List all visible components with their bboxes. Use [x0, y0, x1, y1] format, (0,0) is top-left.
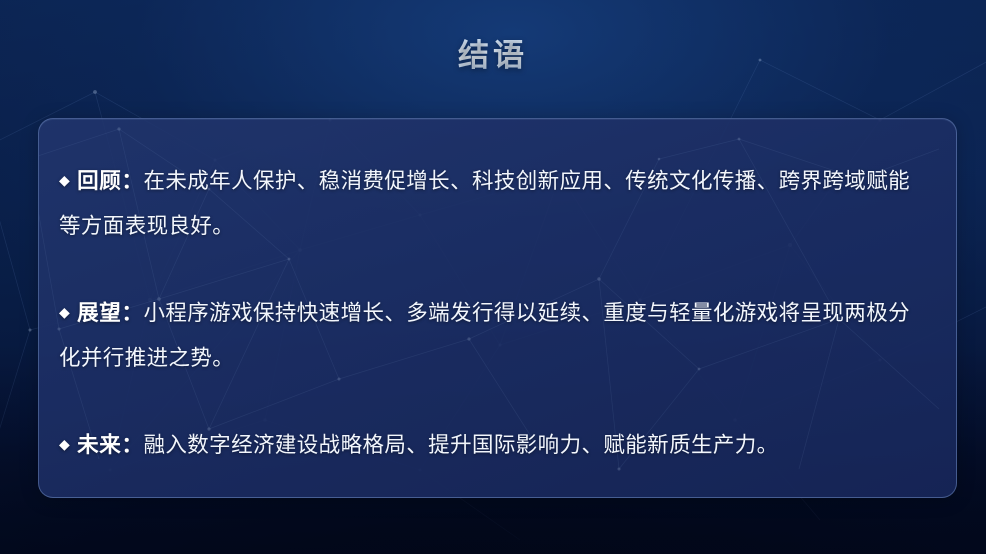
slide-canvas: 结语: [0, 0, 986, 554]
bullet-text: 在未成年人保护、稳消费促增长、科技创新应用、传统文化传播、跨界跨域赋能等方面表现…: [59, 169, 910, 238]
list-item: ◆展望：小程序游戏保持快速增长、多端发行得以延续、重度与轻量化游戏将呈现两极分化…: [59, 291, 930, 381]
content-card: ◆回顾：在未成年人保护、稳消费促增长、科技创新应用、传统文化传播、跨界跨域赋能等…: [38, 118, 957, 498]
bullet-text: 小程序游戏保持快速增长、多端发行得以延续、重度与轻量化游戏将呈现两极分化并行推进…: [59, 301, 910, 370]
diamond-bullet-icon: ◆: [59, 158, 70, 203]
bullet-text: 融入数字经济建设战略格局、提升国际影响力、赋能新质生产力。: [143, 433, 778, 457]
bullet-label: 回顾：: [77, 169, 143, 193]
bullet-label: 未来：: [77, 433, 143, 457]
bullet-label: 展望：: [77, 301, 143, 325]
bullet-list: ◆回顾：在未成年人保护、稳消费促增长、科技创新应用、传统文化传播、跨界跨域赋能等…: [39, 119, 956, 468]
diamond-bullet-icon: ◆: [59, 422, 70, 467]
page-title: 结语: [0, 36, 986, 76]
diamond-bullet-icon: ◆: [59, 290, 70, 335]
list-item: ◆回顾：在未成年人保护、稳消费促增长、科技创新应用、传统文化传播、跨界跨域赋能等…: [59, 159, 930, 249]
list-item: ◆未来：融入数字经济建设战略格局、提升国际影响力、赋能新质生产力。: [59, 423, 930, 468]
